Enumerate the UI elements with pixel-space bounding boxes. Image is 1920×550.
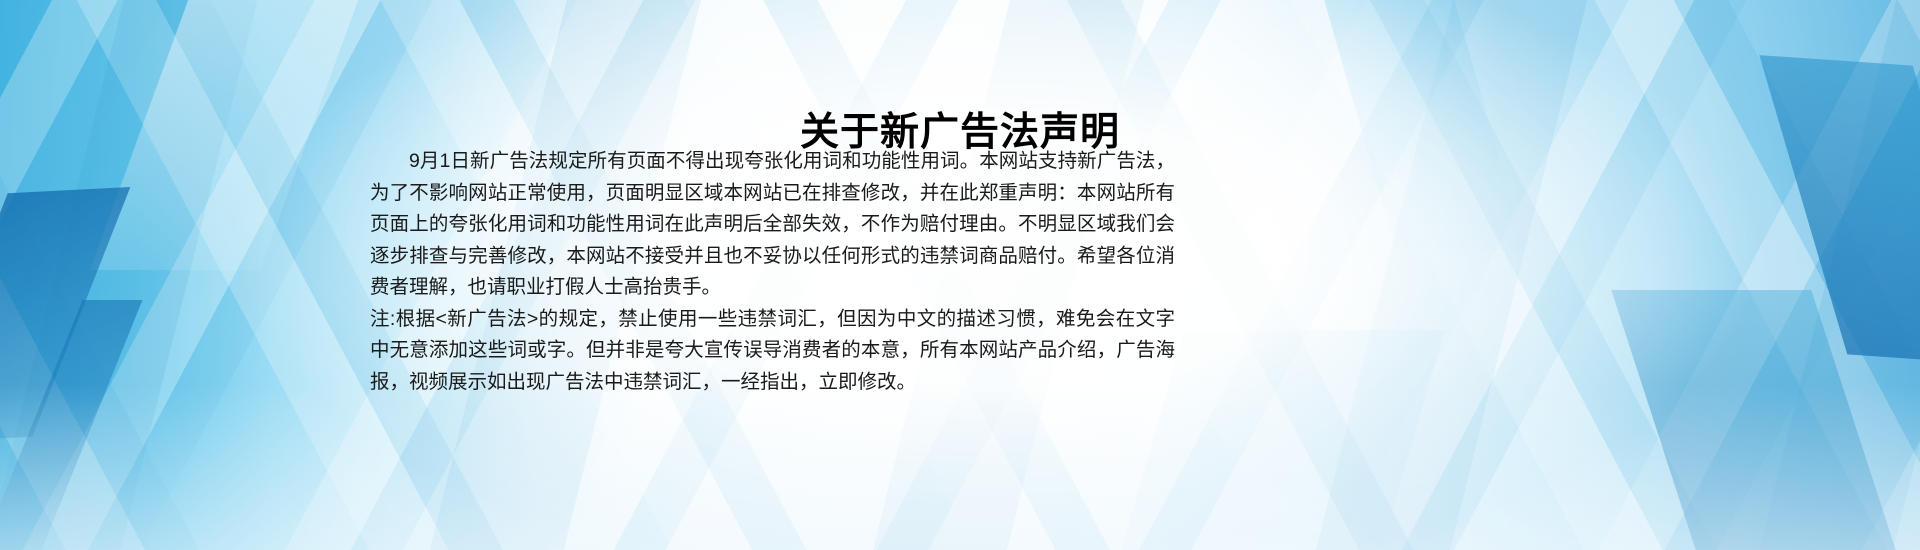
statement-body: 9月1日新广告法规定所有页面不得出现夸张化用词和功能性用词。本网站支持新广告法，… xyxy=(370,146,1175,398)
statement-paragraph-note: 注:根据<新广告法>的规定，禁止使用一些违禁词汇，但因为中文的描述习惯，难免会在… xyxy=(370,304,1175,399)
statement-content: 关于新广告法声明 9月1日新广告法规定所有页面不得出现夸张化用词和功能性用词。本… xyxy=(0,0,1920,550)
statement-paragraph-main: 9月1日新广告法规定所有页面不得出现夸张化用词和功能性用词。本网站支持新广告法，… xyxy=(370,146,1175,304)
advertising-law-statement-banner: 关于新广告法声明 9月1日新广告法规定所有页面不得出现夸张化用词和功能性用词。本… xyxy=(0,0,1920,550)
